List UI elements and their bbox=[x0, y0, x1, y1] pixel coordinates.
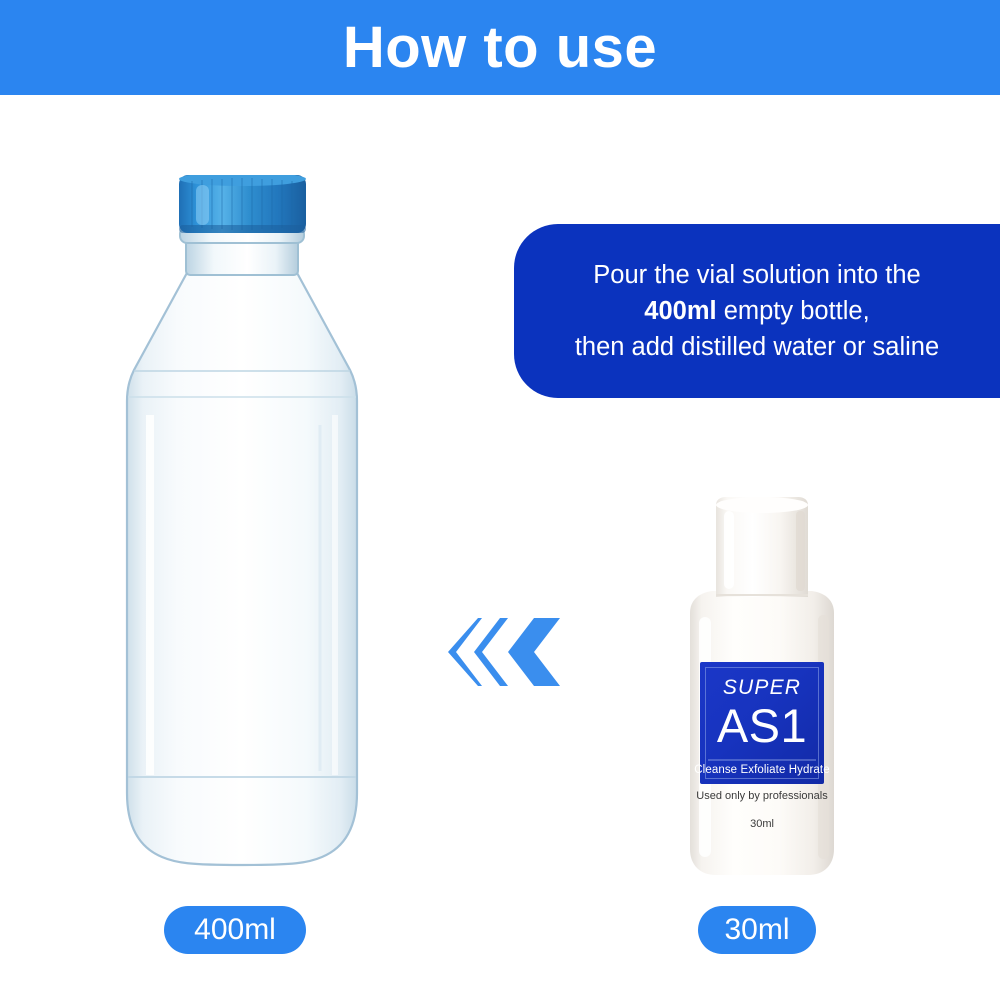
chevron-left-icon-3 bbox=[508, 618, 542, 686]
instruction-volume-highlight: 400ml bbox=[644, 297, 716, 325]
empty-plastic-bottle-image bbox=[110, 175, 375, 875]
volume-badge-30ml: 30ml bbox=[698, 906, 816, 954]
instruction-text: Pour the vial solution into the 400ml em… bbox=[549, 257, 965, 366]
instruction-line-3: then add distilled water or saline bbox=[575, 333, 939, 361]
vial-professional-note: Used only by professionals bbox=[672, 790, 852, 802]
vial-product-text: AS1 bbox=[672, 701, 852, 750]
vial-brand-text: SUPER bbox=[672, 676, 852, 700]
vial-volume-text: 30ml bbox=[672, 818, 852, 830]
vial-tagline-text: Cleanse Exfoliate Hydrate bbox=[672, 764, 852, 776]
chevron-left-icon-2 bbox=[474, 618, 508, 686]
instruction-line-1: Pour the vial solution into the bbox=[593, 261, 920, 289]
volume-badge-400ml: 400ml bbox=[164, 906, 306, 954]
header-band: How to use bbox=[0, 0, 1000, 95]
instruction-callout: Pour the vial solution into the 400ml em… bbox=[514, 224, 1000, 398]
instruction-line-2-rest: empty bottle, bbox=[717, 297, 870, 325]
as1-vial-bottle-image: SUPER AS1 Cleanse Exfoliate Hydrate Used… bbox=[672, 497, 852, 879]
page-title: How to use bbox=[0, 0, 1000, 95]
triple-chevron-left-icon bbox=[448, 618, 560, 686]
